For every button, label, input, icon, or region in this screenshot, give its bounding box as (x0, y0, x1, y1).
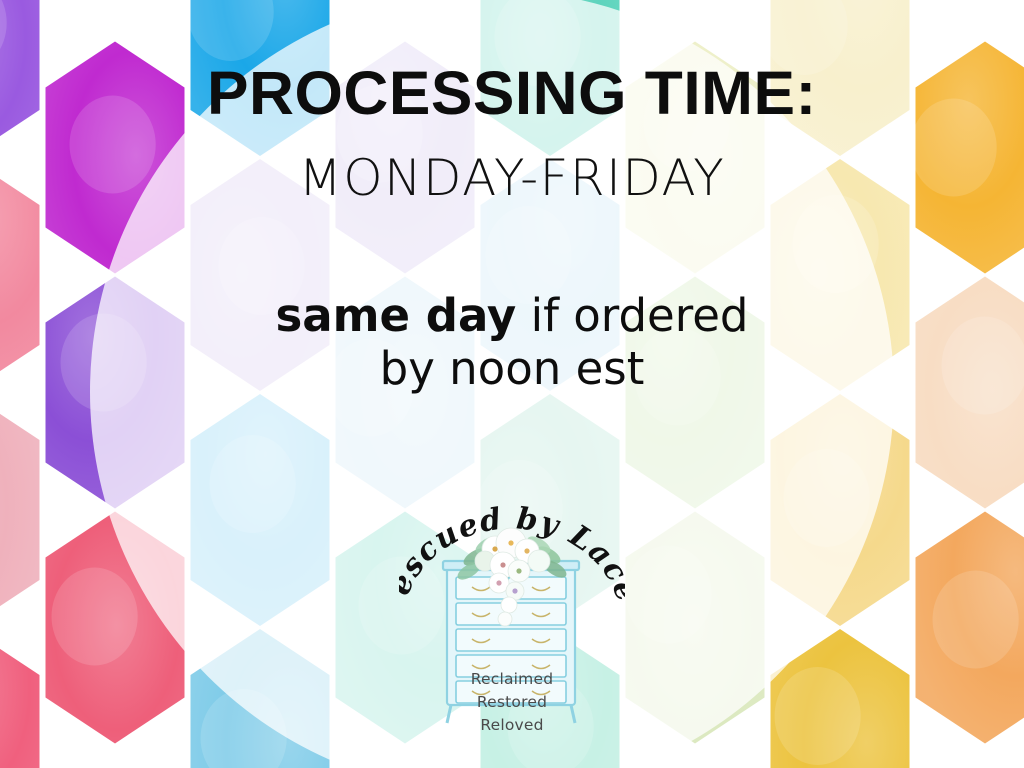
hexagon-texture-blotch (70, 96, 156, 194)
hexagon-texture-blotch (52, 568, 138, 666)
logo-tagline-line: Restored (477, 692, 547, 713)
hexagon-texture-blotch (635, 328, 721, 426)
poster-canvas: PROCESSING TIME: MONDAY-FRIDAY same day … (0, 0, 1024, 768)
hexagon-texture-blotch (328, 339, 414, 437)
hexagon-texture-blotch (933, 571, 1019, 669)
hexagon-texture-blotch (644, 74, 730, 172)
hexagon-texture-blotch (626, 546, 712, 644)
hexagon-texture-blotch (219, 217, 305, 315)
logo-tagline-line: Reclaimed (471, 669, 554, 690)
hexagon-texture-blotch (486, 206, 572, 304)
hexagon-texture-blotch (784, 449, 870, 547)
hexagon-texture-blotch (942, 317, 1024, 415)
hexagon-texture-blotch (775, 667, 861, 765)
hexagon-texture-blotch (793, 195, 879, 293)
hexagon-texture-blotch (210, 435, 296, 533)
logo-tagline-line: Reloved (480, 715, 543, 736)
hexagon-texture-blotch (911, 99, 997, 197)
hexagon-texture-blotch (61, 314, 147, 412)
hexagon-texture-blotch (337, 85, 423, 183)
